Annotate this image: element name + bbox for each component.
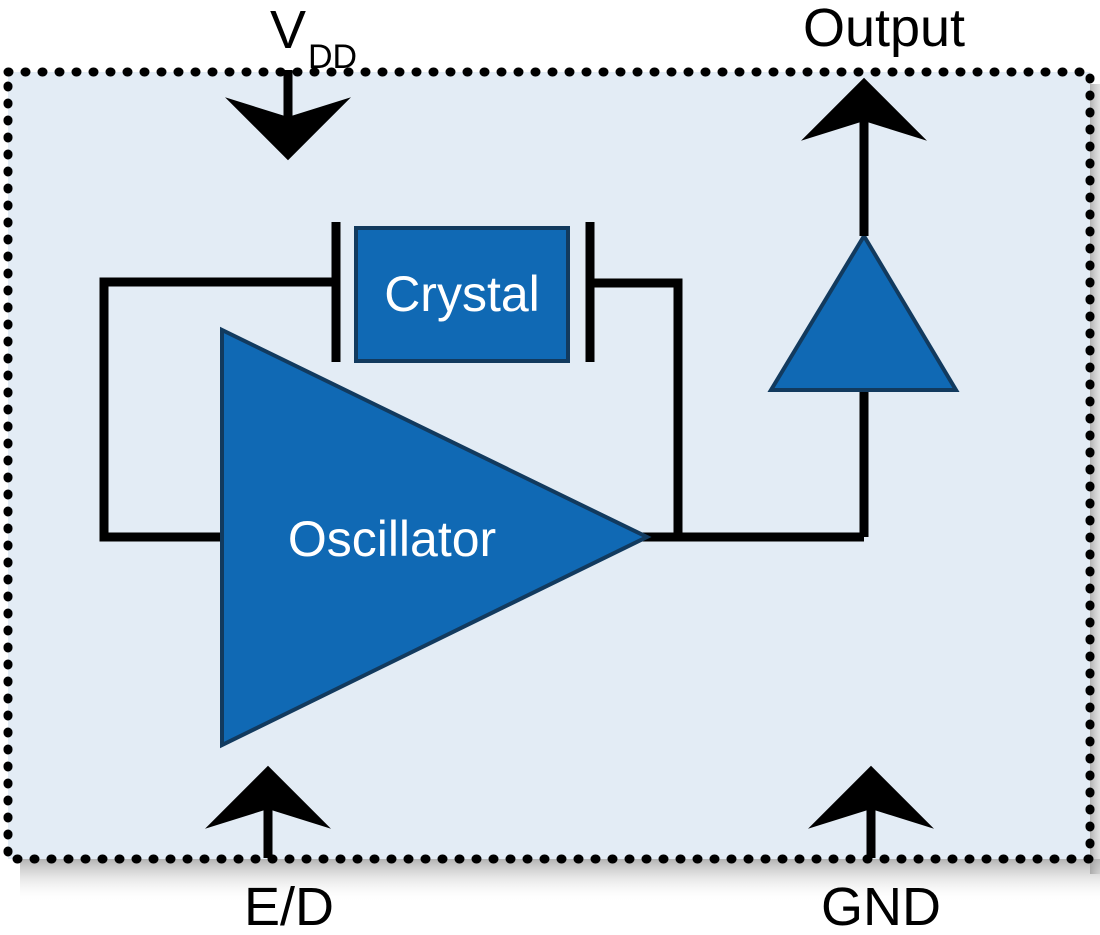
oscillator-block-label: Oscillator [288, 511, 496, 567]
diagram-canvas: Crystal Oscillator V DD Output E/D [0, 0, 1100, 935]
package-boundary [8, 72, 1090, 859]
pin-output-label: Output [803, 0, 965, 58]
crystal-block[interactable]: Crystal [356, 228, 568, 361]
pin-vdd-subscript-label: DD [308, 38, 357, 76]
pin-vdd-label: V [270, 0, 306, 60]
crystal-block-label: Crystal [384, 266, 540, 322]
pin-enable-disable-label: E/D [244, 877, 334, 935]
pin-gnd-label: GND [821, 877, 941, 935]
oscillator-block-diagram: Crystal Oscillator V DD Output E/D [0, 0, 1100, 935]
